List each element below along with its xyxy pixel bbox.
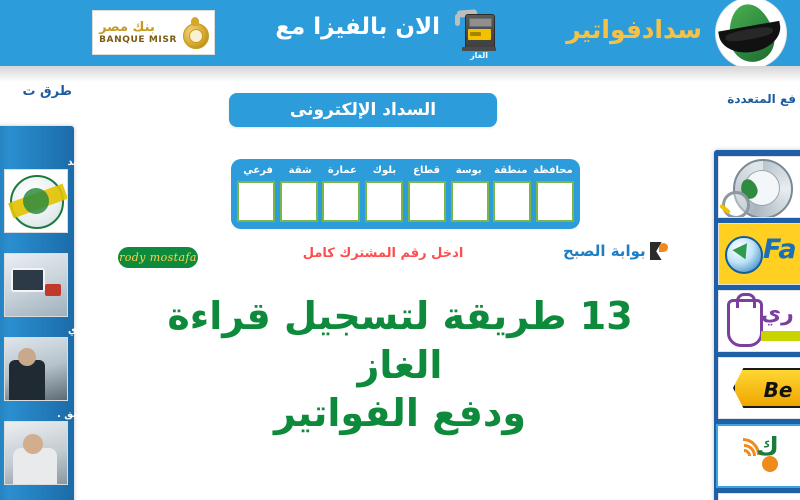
author-watermark-badge: rody mostafa xyxy=(118,247,198,268)
field-label-mohafza: محافظة xyxy=(532,162,574,179)
businessman-photo xyxy=(5,338,67,400)
banque-misr-text: بنك مصر BANQUE MISR xyxy=(99,21,177,45)
banque-misr-english: BANQUE MISR xyxy=(99,36,177,45)
gas-pump-panel xyxy=(468,29,491,40)
header-word-fawateer: فواتير xyxy=(566,17,642,42)
sabah-logo-icon xyxy=(650,242,668,260)
left-item-thumbnail[interactable] xyxy=(4,421,68,485)
header-shadow xyxy=(0,66,800,82)
magnifier-icon xyxy=(722,191,750,218)
gas-pump-icon: الغاز xyxy=(451,6,507,62)
petrotrade-logo-icon[interactable] xyxy=(716,0,786,66)
emblem-inner xyxy=(189,29,203,43)
right-sidebar-title: فع المتعددة xyxy=(727,92,796,106)
gas-icon-label: الغاز xyxy=(451,51,507,60)
author-watermark-text: rody mostafa xyxy=(119,251,197,264)
right-sidebar-panel: Fa ري Be ك xyxy=(714,150,800,500)
field-label-3emara: عمارة xyxy=(321,162,363,179)
subscriber-input-sha2a[interactable] xyxy=(280,181,318,222)
field-label-keta3: قطاع xyxy=(406,162,448,179)
logo-circle xyxy=(716,0,786,66)
field-label-bousa: بوسة xyxy=(448,162,490,179)
logo-calligraphy-swoosh xyxy=(718,21,784,57)
source-badge-text: بوابة الصبح xyxy=(563,242,646,260)
subscriber-field-inputs xyxy=(237,181,574,223)
field-label-mantaka: منطقة xyxy=(490,162,532,179)
wifi-icon xyxy=(724,436,758,462)
badge-ring xyxy=(8,184,68,219)
payment-provider-card-fawry[interactable]: Fa xyxy=(718,223,800,285)
gas-pump-body xyxy=(465,14,495,50)
header-word-sadad: سداد xyxy=(642,17,702,42)
subscriber-input-far3y[interactable] xyxy=(237,181,275,222)
field-label-block: بلوك xyxy=(363,162,405,179)
banque-misr-arabic: بنك مصر xyxy=(99,21,155,34)
left-item-label: عن طريد xyxy=(6,156,78,169)
subscriber-input-mantaka[interactable] xyxy=(493,181,531,222)
payment-provider-card-petrotrade[interactable] xyxy=(718,156,800,218)
left-item-label: عن طر xyxy=(6,240,78,253)
left-item-label: عن طريق . xyxy=(6,408,78,421)
bee-hexagon-icon: Be xyxy=(733,368,800,408)
left-item-thumbnail[interactable] xyxy=(4,253,68,317)
laptop-desk-photo xyxy=(5,254,67,316)
left-list-item[interactable]: عن طريد xyxy=(6,156,78,233)
page-headline: 13 طريقة لتسجيل قراءة الغاز ودفع الفواتي… xyxy=(120,292,680,438)
electronic-payment-button[interactable]: السداد الإلكترونى xyxy=(229,93,497,127)
masary-underline xyxy=(761,331,800,341)
masary-wordmark: ري xyxy=(761,303,794,325)
subscriber-input-block[interactable] xyxy=(365,181,403,222)
field-label-sha2a: شقة xyxy=(279,162,321,179)
bee-wordmark: Be xyxy=(735,370,800,410)
left-sidebar: طرق ت عن طريد عن طر عن طري عن طريق . xyxy=(0,78,78,500)
left-item-thumbnail[interactable] xyxy=(4,337,68,401)
gas-pump-screen xyxy=(469,18,492,27)
subscriber-number-panel: محافظة منطقة بوسة قطاع بلوك عمارة شقة فر… xyxy=(231,159,580,229)
right-sidebar: فع المتعددة Fa ري Be xyxy=(704,78,800,500)
left-item-label: عن طري xyxy=(6,324,78,337)
subscriber-input-mohafza[interactable] xyxy=(536,181,574,222)
masary-bag-icon xyxy=(727,299,763,347)
subscriber-input-3emara[interactable] xyxy=(322,181,360,222)
source-badge[interactable]: بوابة الصبح xyxy=(563,240,668,262)
payment-provider-card-misc[interactable] xyxy=(718,493,800,500)
subscriber-input-bousa[interactable] xyxy=(451,181,489,222)
payment-provider-card-wifi[interactable]: ك xyxy=(716,424,800,488)
left-list-item[interactable]: عن طري xyxy=(6,324,78,401)
site-header: سداد فواتير الغاز الان بالفيزا مع بنك مص… xyxy=(0,0,800,66)
subscriber-number-hint: ادخل رقم المشترك كامل xyxy=(288,246,478,261)
left-item-thumbnail[interactable] xyxy=(4,169,68,233)
payment-provider-card-masary[interactable]: ري xyxy=(718,290,800,352)
header-promo-text: الان بالفيزا مع xyxy=(275,14,440,40)
banque-misr-logo[interactable]: بنك مصر BANQUE MISR xyxy=(92,10,215,55)
call-center-agent-photo xyxy=(5,422,67,484)
left-list-item[interactable]: عن طريق . xyxy=(6,408,78,485)
field-label-far3y: فرعي xyxy=(237,162,279,179)
left-list-item[interactable]: عن طر xyxy=(6,240,78,317)
banque-misr-emblem-icon xyxy=(182,17,208,49)
subscriber-field-labels: محافظة منطقة بوسة قطاع بلوك عمارة شقة فر… xyxy=(237,162,574,179)
petrotrade-badge-icon xyxy=(10,175,64,229)
payment-provider-card-bee[interactable]: Be xyxy=(718,357,800,419)
left-sidebar-title: طرق ت xyxy=(22,84,72,99)
fawry-wordmark: Fa xyxy=(763,236,797,263)
wifi-orange-dot xyxy=(762,456,778,472)
subscriber-input-keta3[interactable] xyxy=(408,181,446,222)
